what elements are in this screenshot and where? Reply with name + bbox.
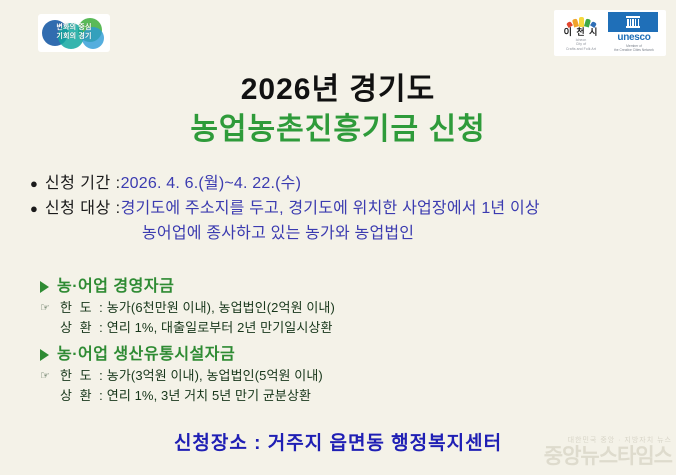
gyeonggi-province-logo: 변화의 중심 기회의 경기 [38, 14, 110, 52]
unesco-emblem-box [608, 12, 658, 32]
fund-limit-value-facility: 농가(3억원 이내), 농업법인(5억원 이내) [107, 366, 323, 386]
unesco-logo: unesco Member of the Creative Cities Net… [608, 12, 660, 52]
bullet-eligibility: ● 신청 대상 : 경기도에 주소지를 두고, 경기도에 위치한 사업장에서 1… [30, 196, 660, 221]
gyeonggi-logo-text: 변화의 중심 기회의 경기 [38, 23, 110, 41]
poster-title-line-2: 농업농촌진흥기금 신청 [0, 104, 676, 148]
fund-limit-key-facility: 한 도 : [60, 366, 105, 386]
fund-limit-row-facility: ☞ 한 도 : 농가(3억원 이내), 농업법인(5억원 이내) [40, 366, 660, 386]
fund-limit-value-management: 농가(6천만원 이내), 농업법인(2억원 이내) [107, 298, 335, 318]
unesco-sub-2: the Creative Cities Network [608, 48, 660, 52]
fund-repayment-value-facility: 연리 1%, 3년 거치 5년 만기 균분상환 [107, 386, 311, 406]
triangle-bullet-icon-2 [40, 349, 49, 361]
bullet-label-period: 신청 기간 : [45, 171, 121, 196]
gyeonggi-logo-line1: 변화의 중심 [38, 23, 110, 32]
gyeonggi-logo-line2: 기회의 경기 [38, 32, 110, 41]
fund-section-heading-management: 농·어업 경영자금 [40, 276, 660, 298]
bullet-value-period: 2026. 4. 6.(월)~4. 22.(수) [121, 171, 302, 196]
unesco-wordmark: unesco [608, 32, 660, 44]
unesco-temple-icon [625, 16, 641, 28]
pointing-hand-icon: ☞ [40, 298, 60, 318]
fund-heading-text-management: 농·어업 경영자금 [57, 276, 174, 298]
fund-repayment-row-facility: ☞ 상 환 : 연리 1%, 3년 거치 5년 만기 균분상환 [40, 386, 660, 406]
pointing-hand-icon-2: ☞ [40, 366, 60, 386]
fund-sections: 농·어업 경영자금 ☞ 한 도 : 농가(6천만원 이내), 농업법인(2억원 … [40, 276, 660, 412]
bullet-label-eligibility: 신청 대상 : [45, 196, 121, 221]
fund-limit-row-management: ☞ 한 도 : 농가(6천만원 이내), 농업법인(2억원 이내) [40, 298, 660, 318]
poster-canvas: 변화의 중심 기회의 경기 이 천 시 Icheon City of Craft… [0, 0, 676, 475]
bullet-dot-icon: ● [30, 171, 38, 196]
fund-repayment-key-facility: 상 환 : [60, 386, 105, 406]
bullet-value-eligibility: 경기도에 주소지를 두고, 경기도에 위치한 사업장에서 1년 이상 [121, 196, 540, 221]
info-bullet-list: ● 신청 기간 : 2026. 4. 6.(월)~4. 22.(수) ● 신청 … [30, 171, 660, 246]
fund-repayment-row-management: ☞ 상 환 : 연리 1%, 대출일로부터 2년 만기일시상환 [40, 318, 660, 338]
triangle-bullet-icon [40, 281, 49, 293]
bullet-application-period: ● 신청 기간 : 2026. 4. 6.(월)~4. 22.(수) [30, 171, 660, 196]
fund-section-heading-facility: 농·어업 생산유통시설자금 [40, 344, 660, 366]
fund-section-facility: 농·어업 생산유통시설자금 ☞ 한 도 : 농가(3억원 이내), 농업법인(5… [40, 344, 660, 406]
partner-logo-group: 이 천 시 Icheon City of Crafts and Folk Art… [554, 10, 666, 56]
icheon-city-name: 이 천 시 [557, 27, 605, 38]
fund-limit-key-management: 한 도 : [60, 298, 105, 318]
fund-repayment-key-management: 상 환 : [60, 318, 105, 338]
fund-section-management: 농·어업 경영자금 ☞ 한 도 : 농가(6천만원 이내), 농업법인(2억원 … [40, 276, 660, 338]
fund-heading-text-facility: 농·어업 생산유통시설자금 [57, 344, 235, 366]
fund-repayment-value-management: 연리 1%, 대출일로부터 2년 만기일시상환 [107, 318, 333, 338]
bullet-value-eligibility-cont: 농어업에 종사하고 있는 농가와 농업법인 [142, 221, 660, 246]
icheon-sub-3: Crafts and Folk Art [557, 47, 605, 51]
application-location-footer: 신청장소 : 거주지 읍면동 행정복지센터 [0, 428, 676, 455]
icheon-city-logo: 이 천 시 Icheon City of Crafts and Folk Art [557, 12, 605, 51]
bullet-dot-icon-2: ● [30, 196, 38, 221]
icheon-arc-icon [557, 14, 605, 27]
poster-title-line-1: 2026년 경기도 [0, 64, 676, 108]
